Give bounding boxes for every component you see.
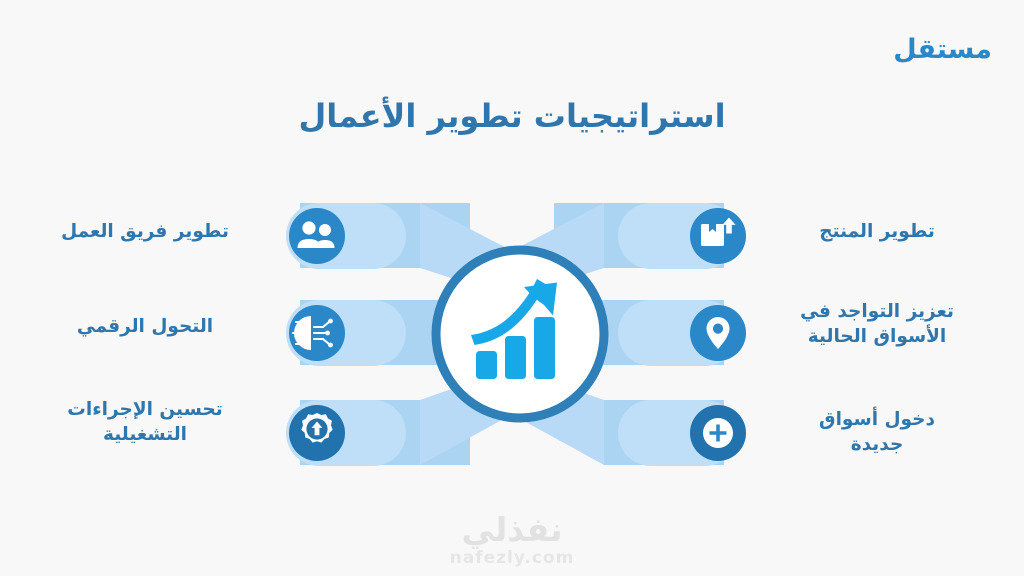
label-existing-markets-line2: الأسواق الحالية	[762, 325, 992, 350]
right-nodes	[618, 203, 746, 466]
icon-circle-team-development[interactable]	[289, 208, 345, 264]
infographic-canvas: مستقل استراتيجيات تطوير الأعمال	[0, 0, 1024, 576]
label-existing-markets: تعزيز التواجد في الأسواق الحالية	[762, 300, 992, 350]
label-operational-improvement-line2: التشغيلية	[30, 423, 260, 448]
center-badge[interactable]	[432, 246, 608, 422]
left-nodes	[286, 203, 406, 466]
label-team-development: تطوير فريق العمل	[30, 220, 260, 245]
label-digital-transformation: التحول الرقمي	[30, 315, 260, 340]
label-operational-improvement: تحسين الإجراءات التشغيلية	[30, 398, 260, 448]
label-new-markets: دخول أسواق جديدة	[762, 408, 992, 458]
label-existing-markets-line1: تعزيز التواجد في	[762, 300, 992, 325]
label-operational-improvement-line1: تحسين الإجراءات	[30, 398, 260, 423]
label-new-markets-line2: جديدة	[762, 433, 992, 458]
label-product-development: تطوير المنتج	[762, 220, 992, 245]
plus-circle-icon	[703, 418, 733, 448]
label-new-markets-line1: دخول أسواق	[762, 408, 992, 433]
strategy-diagram	[0, 0, 1024, 576]
